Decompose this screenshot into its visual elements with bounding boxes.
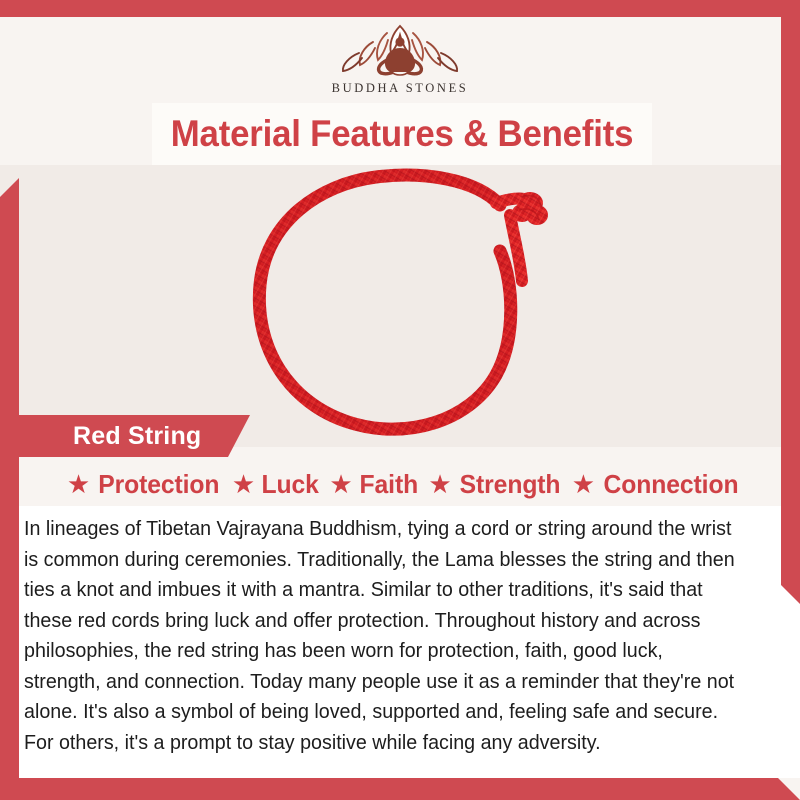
benefit-item-protection: ★ Protection [58, 469, 223, 500]
red-string-bracelet-image [238, 165, 578, 447]
benefit-item-faith: ★ Faith [320, 469, 419, 500]
product-name-label: Red String [73, 422, 201, 451]
benefit-label: Luck [262, 469, 319, 500]
brand-header: BUDDHA STONES [0, 17, 800, 105]
frame-band-right [781, 0, 800, 604]
frame-band-left [0, 178, 19, 800]
frame-band-top [0, 0, 800, 17]
brand-name: BUDDHA STONES [332, 81, 469, 96]
benefits-row: ★ Protection ★ Luck ★ Faith ★ Strength ★… [0, 462, 800, 506]
star-icon: ★ [428, 471, 451, 497]
star-icon: ★ [67, 471, 90, 497]
benefit-item-connection: ★ Connection [563, 469, 742, 500]
star-icon: ★ [232, 471, 255, 497]
page-title: Material Features & Benefits [171, 113, 633, 155]
description-section: In lineages of Tibetan Vajrayana Buddhis… [0, 506, 800, 778]
benefit-item-luck: ★ Luck [223, 469, 321, 500]
benefit-label: Strength [459, 469, 560, 500]
title-banner: Material Features & Benefits [152, 103, 652, 165]
benefit-label: Connection [604, 469, 739, 500]
poster-root: BUDDHA STONES Material Features & Benefi… [0, 0, 800, 800]
star-icon: ★ [572, 471, 595, 497]
lotus-meditation-icon [329, 20, 471, 80]
benefit-label: Faith [359, 469, 418, 500]
benefit-label: Protection [98, 469, 219, 500]
benefit-item-strength: ★ Strength [419, 469, 562, 500]
frame-band-bottom [0, 778, 800, 800]
product-name-ribbon: Red String [18, 415, 250, 457]
description-paragraph: In lineages of Tibetan Vajrayana Buddhis… [24, 514, 742, 758]
star-icon: ★ [329, 471, 352, 497]
product-photo [0, 165, 800, 447]
